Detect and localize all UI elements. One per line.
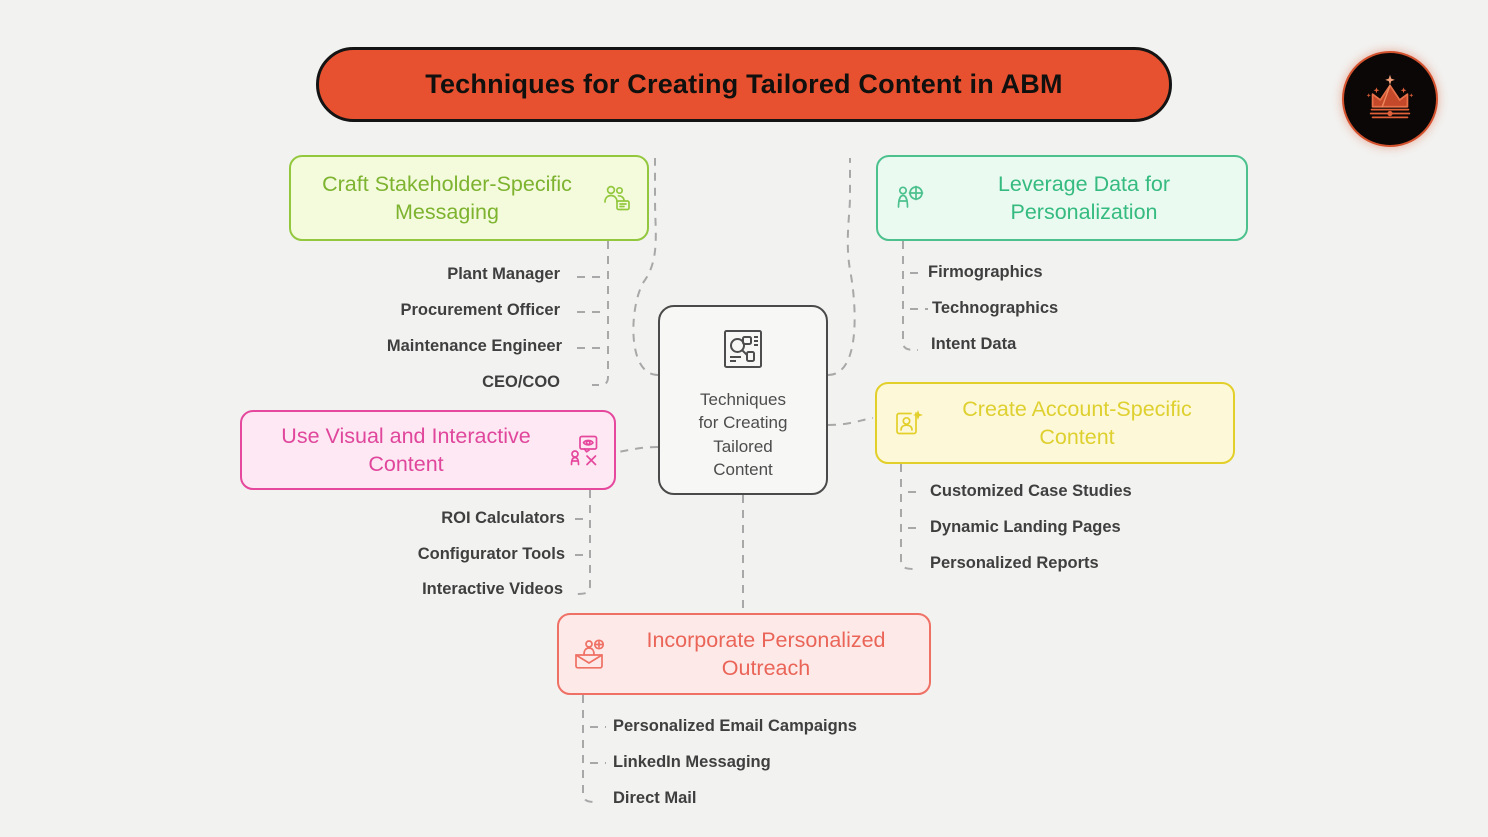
envelope-person-icon [573,637,607,671]
sub-item-plant-manager: Plant Manager [280,265,560,284]
center-node[interactable]: Techniques for Creating Tailored Content [658,305,828,495]
sub-item-direct-mail: Direct Mail [613,789,696,808]
wire-center-to-yellow [828,418,873,425]
center-node-label: Techniques for Creating Tailored Content [699,388,788,482]
branch-label-craft-stakeholder-specific-messaging: Craft Stakeholder-Specific Messaging [305,170,589,227]
center-line-0: Techniques [699,388,788,411]
sub-item-roi-calculators: ROI Calculators [300,509,565,528]
sub-item-procurement-officer: Procurement Officer [280,301,560,320]
sub-item-firmographics: Firmographics [928,263,1043,282]
spine-emerald [903,241,918,350]
sub-item-ceo-coo: CEO/COO [280,373,560,392]
sub-item-technographics: Technographics [932,299,1058,318]
branch-label-incorporate-personalized-outreach: Incorporate Personalized Outreach [617,626,915,683]
branch-node-leverage-data-for-personalization[interactable]: Leverage Data for Personalization [876,155,1248,241]
document-search-icon [719,325,767,378]
spine-pink [575,490,590,594]
branch-label-use-visual-and-interactive-content: Use Visual and Interactive Content [256,422,556,479]
sub-item-configurator-tools: Configurator Tools [300,545,565,564]
sub-item-intent-data: Intent Data [931,335,1016,354]
people-chat-icon [599,181,633,215]
branch-node-incorporate-personalized-outreach[interactable]: Incorporate Personalized Outreach [557,613,931,695]
mindmap-canvas: Techniques for Creating Tailored Content… [0,0,1488,837]
page-title-text: Techniques for Creating Tailored Content… [425,69,1062,100]
person-frame-sparkle-icon [891,406,925,440]
person-target-icon [892,181,926,215]
sub-item-personalized-reports: Personalized Reports [930,554,1099,573]
sub-item-linkedin-messaging: LinkedIn Messaging [613,753,771,772]
crown-mountain-logo [1342,51,1438,147]
branch-label-create-account-specific-content: Create Account-Specific Content [935,395,1219,452]
spine-red [583,695,598,802]
sub-item-maintenance-engineer: Maintenance Engineer [280,337,562,356]
page-title: Techniques for Creating Tailored Content… [316,47,1172,122]
branch-label-leverage-data-for-personalization: Leverage Data for Personalization [936,170,1232,227]
eye-presentation-icon [566,433,600,467]
spine-yellow [901,464,917,569]
sub-item-interactive-videos: Interactive Videos [300,580,563,599]
center-line-1: for Creating [699,411,788,434]
branch-node-create-account-specific-content[interactable]: Create Account-Specific Content [875,382,1235,464]
sub-item-dynamic-landing-pages: Dynamic Landing Pages [930,518,1121,537]
center-line-2: Tailored [699,435,788,458]
crown-mountain-icon [1359,68,1421,130]
wire-center-to-emerald [828,158,855,375]
center-line-3: Content [699,458,788,481]
spine-green [592,241,608,385]
sub-item-personalized-email-campaigns: Personalized Email Campaigns [613,717,857,736]
sub-item-customized-case-studies: Customized Case Studies [930,482,1132,501]
branch-node-use-visual-and-interactive-content[interactable]: Use Visual and Interactive Content [240,410,616,490]
branch-node-craft-stakeholder-specific-messaging[interactable]: Craft Stakeholder-Specific Messaging [289,155,649,241]
wire-center-to-pink [618,447,658,452]
